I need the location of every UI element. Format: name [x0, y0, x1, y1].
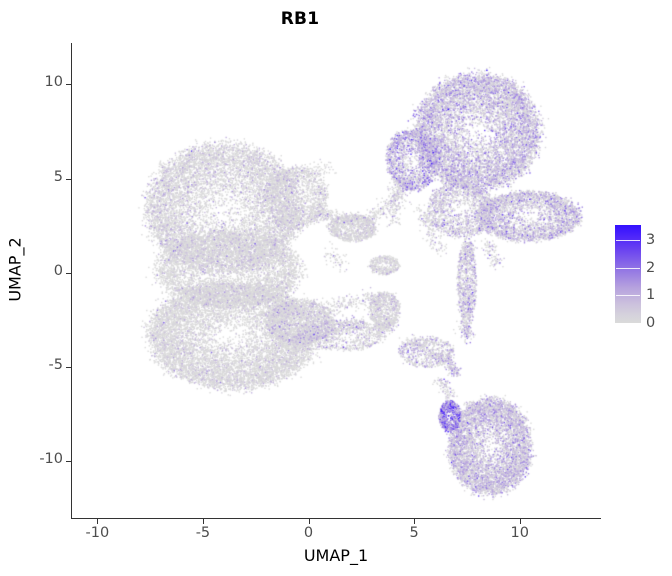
y-tick-label: 0	[54, 263, 63, 279]
legend-tick-mark	[616, 295, 640, 296]
color-legend: 3210	[615, 225, 670, 330]
x-tick-mark	[97, 519, 98, 524]
x-tick-mark	[309, 519, 310, 524]
legend-tick-label: 1	[646, 287, 655, 303]
x-axis-line	[71, 518, 601, 519]
x-tick-label: 5	[384, 525, 444, 541]
y-tick-mark	[66, 461, 71, 462]
x-tick-mark	[414, 519, 415, 524]
legend-tick-mark	[616, 268, 640, 269]
legend-tick-label: 3	[646, 232, 655, 248]
y-tick-label: 10	[45, 74, 63, 90]
x-tick-mark	[520, 519, 521, 524]
legend-tick-label: 0	[646, 315, 655, 331]
scatter-plot-panel	[72, 43, 600, 518]
y-tick-mark	[66, 84, 71, 85]
y-tick-mark	[66, 273, 71, 274]
y-axis-line	[71, 43, 72, 519]
x-tick-mark	[203, 519, 204, 524]
x-tick-label: -10	[67, 525, 127, 541]
page-title: RB1	[0, 9, 600, 29]
y-tick-label: 5	[54, 169, 63, 185]
legend-tick-label: 2	[646, 260, 655, 276]
x-tick-label: -5	[173, 525, 233, 541]
scatter-points-layer	[72, 43, 600, 518]
legend-tick-mark	[616, 240, 640, 241]
x-tick-label: 0	[279, 525, 339, 541]
feature-plot-figure: RB1 1050-5-10 -10-50510 UMAP_1 UMAP_2 32…	[0, 0, 672, 576]
y-axis-title: UMAP_2	[6, 170, 25, 370]
y-tick-label: -10	[39, 451, 63, 467]
y-tick-mark	[66, 179, 71, 180]
x-axis-title: UMAP_1	[71, 546, 601, 565]
y-tick-mark	[66, 367, 71, 368]
y-tick-label: -5	[49, 357, 63, 373]
x-tick-label: 10	[490, 525, 550, 541]
